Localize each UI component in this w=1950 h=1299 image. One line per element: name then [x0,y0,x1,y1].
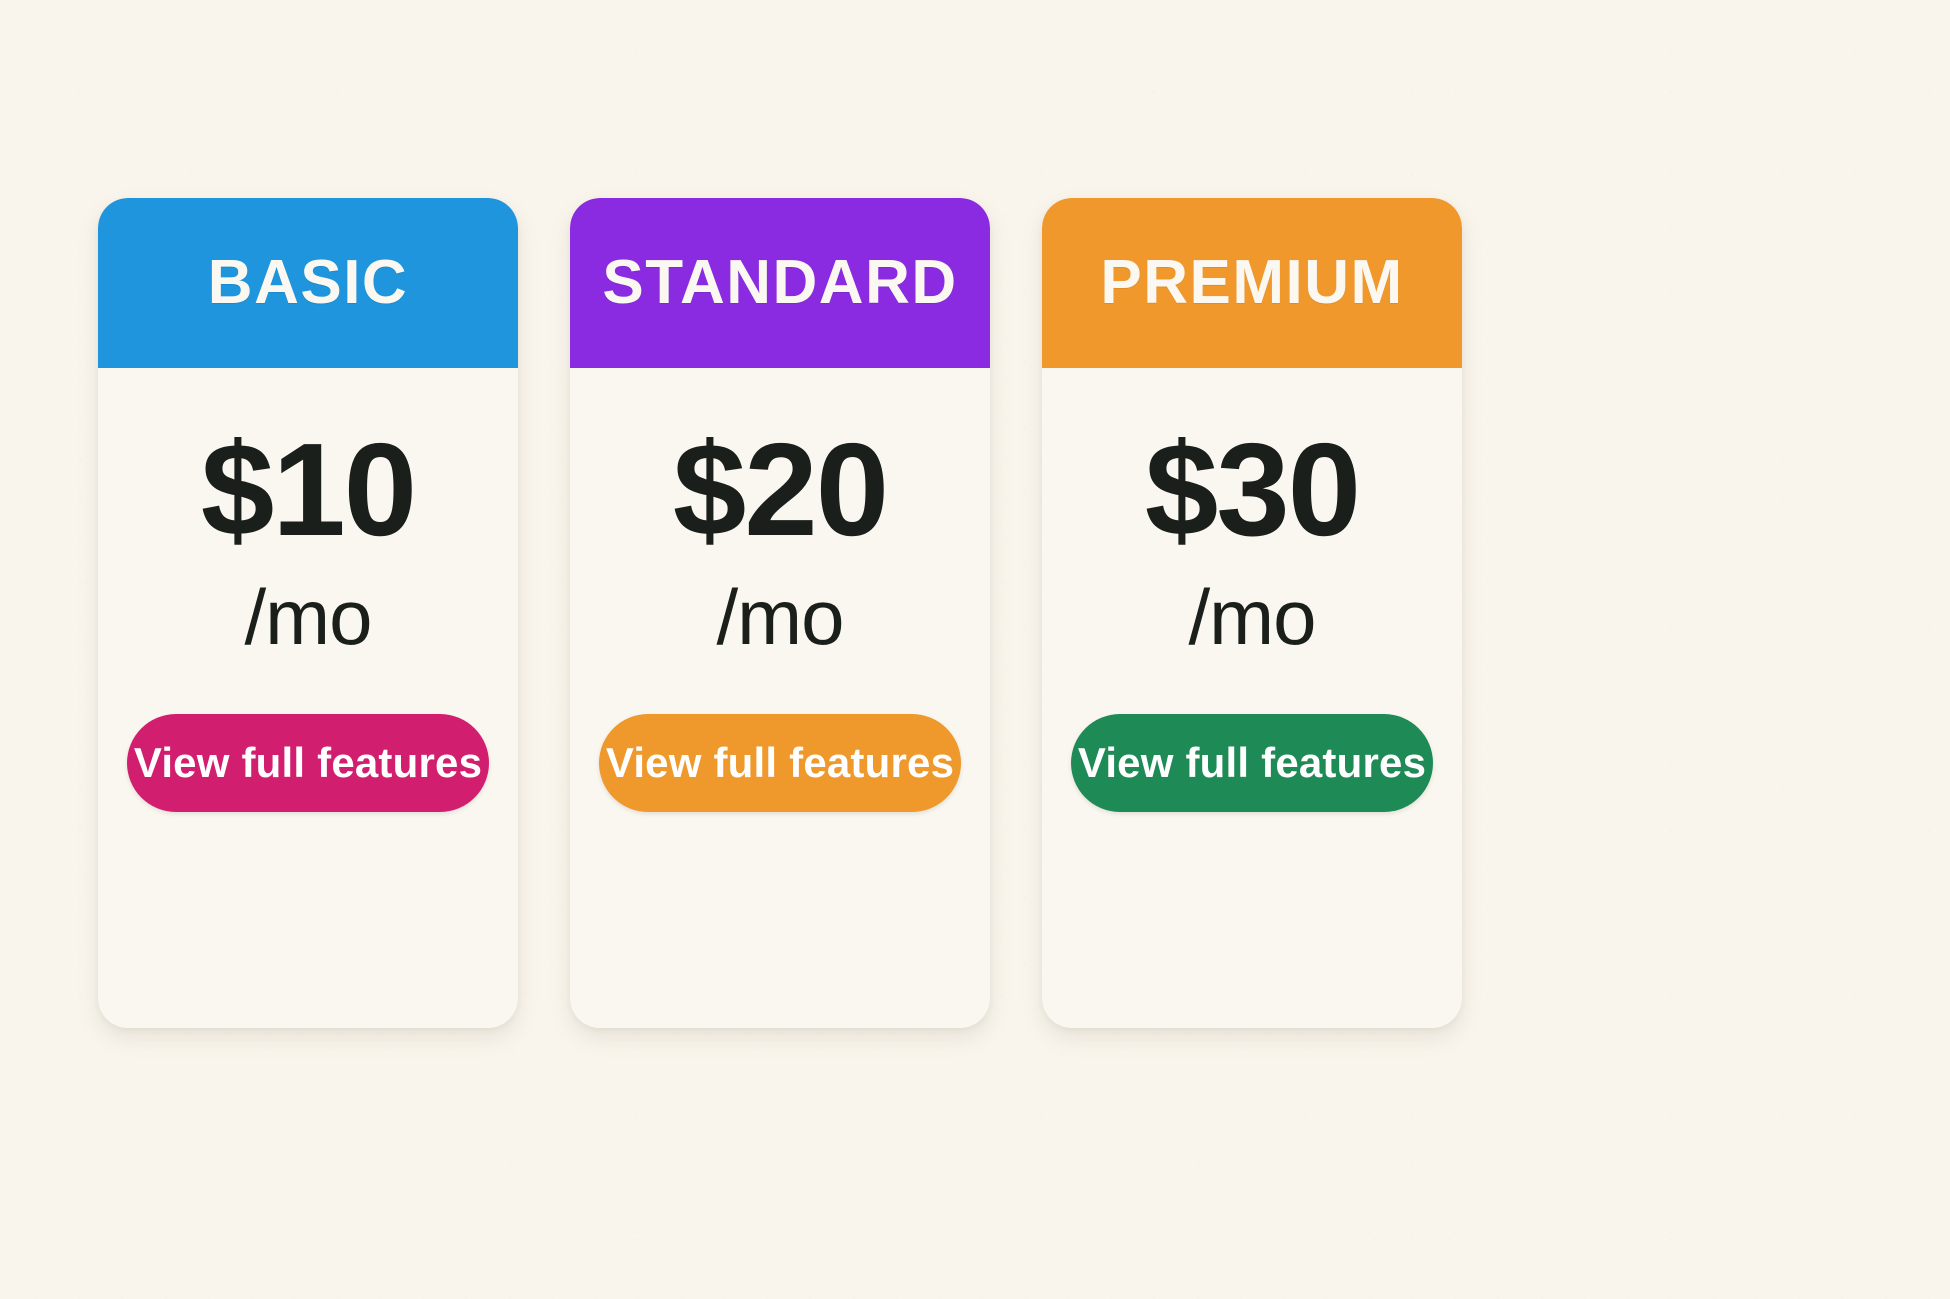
card-header-basic: BASIC [98,198,518,368]
card-header-standard: STANDARD [570,198,990,368]
pricing-card-standard[interactable]: STANDARD $20 /mo View full features [570,198,990,1028]
pricing-card-premium[interactable]: PREMIUM $30 /mo View full features [1042,198,1462,1028]
pricing-cards-row: BASIC $10 /mo View full features STANDAR… [98,198,1852,1028]
view-full-features-button-standard[interactable]: View full features [599,714,961,812]
pricing-card-basic[interactable]: BASIC $10 /mo View full features [98,198,518,1028]
plan-price-premium: $30 [1145,424,1359,556]
plan-price-standard: $20 [673,424,887,556]
plan-period-standard: /mo [716,578,843,656]
view-full-features-button-premium[interactable]: View full features [1071,714,1433,812]
card-header-premium: PREMIUM [1042,198,1462,368]
pricing-page: BASIC $10 /mo View full features STANDAR… [0,0,1950,1299]
card-body-basic: $10 /mo View full features [98,368,518,1028]
plan-price-basic: $10 [201,424,415,556]
view-full-features-button-basic[interactable]: View full features [127,714,489,812]
plan-name-premium: PREMIUM [1100,252,1403,314]
plan-period-premium: /mo [1188,578,1315,656]
card-body-standard: $20 /mo View full features [570,368,990,1028]
card-body-premium: $30 /mo View full features [1042,368,1462,1028]
plan-name-basic: BASIC [208,252,408,314]
plan-period-basic: /mo [244,578,371,656]
plan-name-standard: STANDARD [602,252,957,314]
